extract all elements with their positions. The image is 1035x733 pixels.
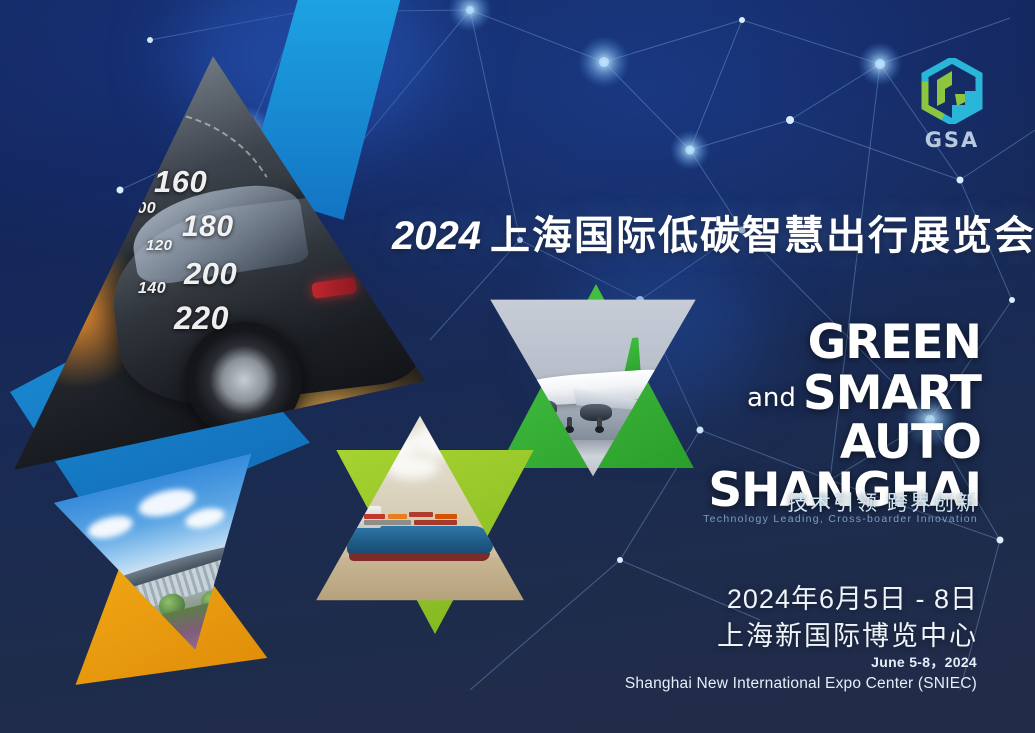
- headline-and: and: [747, 383, 796, 413]
- gsa-logo[interactable]: GSA: [909, 58, 995, 152]
- tagline-english: Technology Leading, Cross-boarder Innova…: [703, 513, 978, 525]
- event-venue-chinese: 上海新国际博览中心: [717, 614, 978, 653]
- headline-auto: AUTO: [840, 415, 981, 470]
- headline-green: GREEN: [808, 315, 981, 370]
- headline-row-2: andSMART: [708, 371, 981, 417]
- event-poster: 120 140 160 180 200 220 40 60 80 100 120…: [0, 0, 1035, 733]
- event-venue-english: Shanghai New International Expo Center (…: [625, 675, 977, 693]
- gsa-hexagon-g-logo-icon: [921, 58, 983, 124]
- event-date-english: June 5-8，2024: [871, 652, 977, 672]
- headline-row-3: AUTO: [708, 420, 981, 466]
- title-chinese: 上海国际低碳智慧出行展览会: [490, 214, 1035, 258]
- headline-block: GREEN andSMART AUTO SHANGHAI: [708, 320, 981, 514]
- gsa-logo-text: GSA: [909, 128, 995, 152]
- headline-smart: SMART: [803, 366, 981, 421]
- page-title: 2024上海国际低碳智慧出行展览会: [392, 203, 1035, 261]
- headline-row-1: GREEN: [708, 320, 981, 366]
- title-year: 2024: [392, 214, 481, 258]
- event-date-chinese: 2024年6月5日 - 8日: [727, 577, 978, 616]
